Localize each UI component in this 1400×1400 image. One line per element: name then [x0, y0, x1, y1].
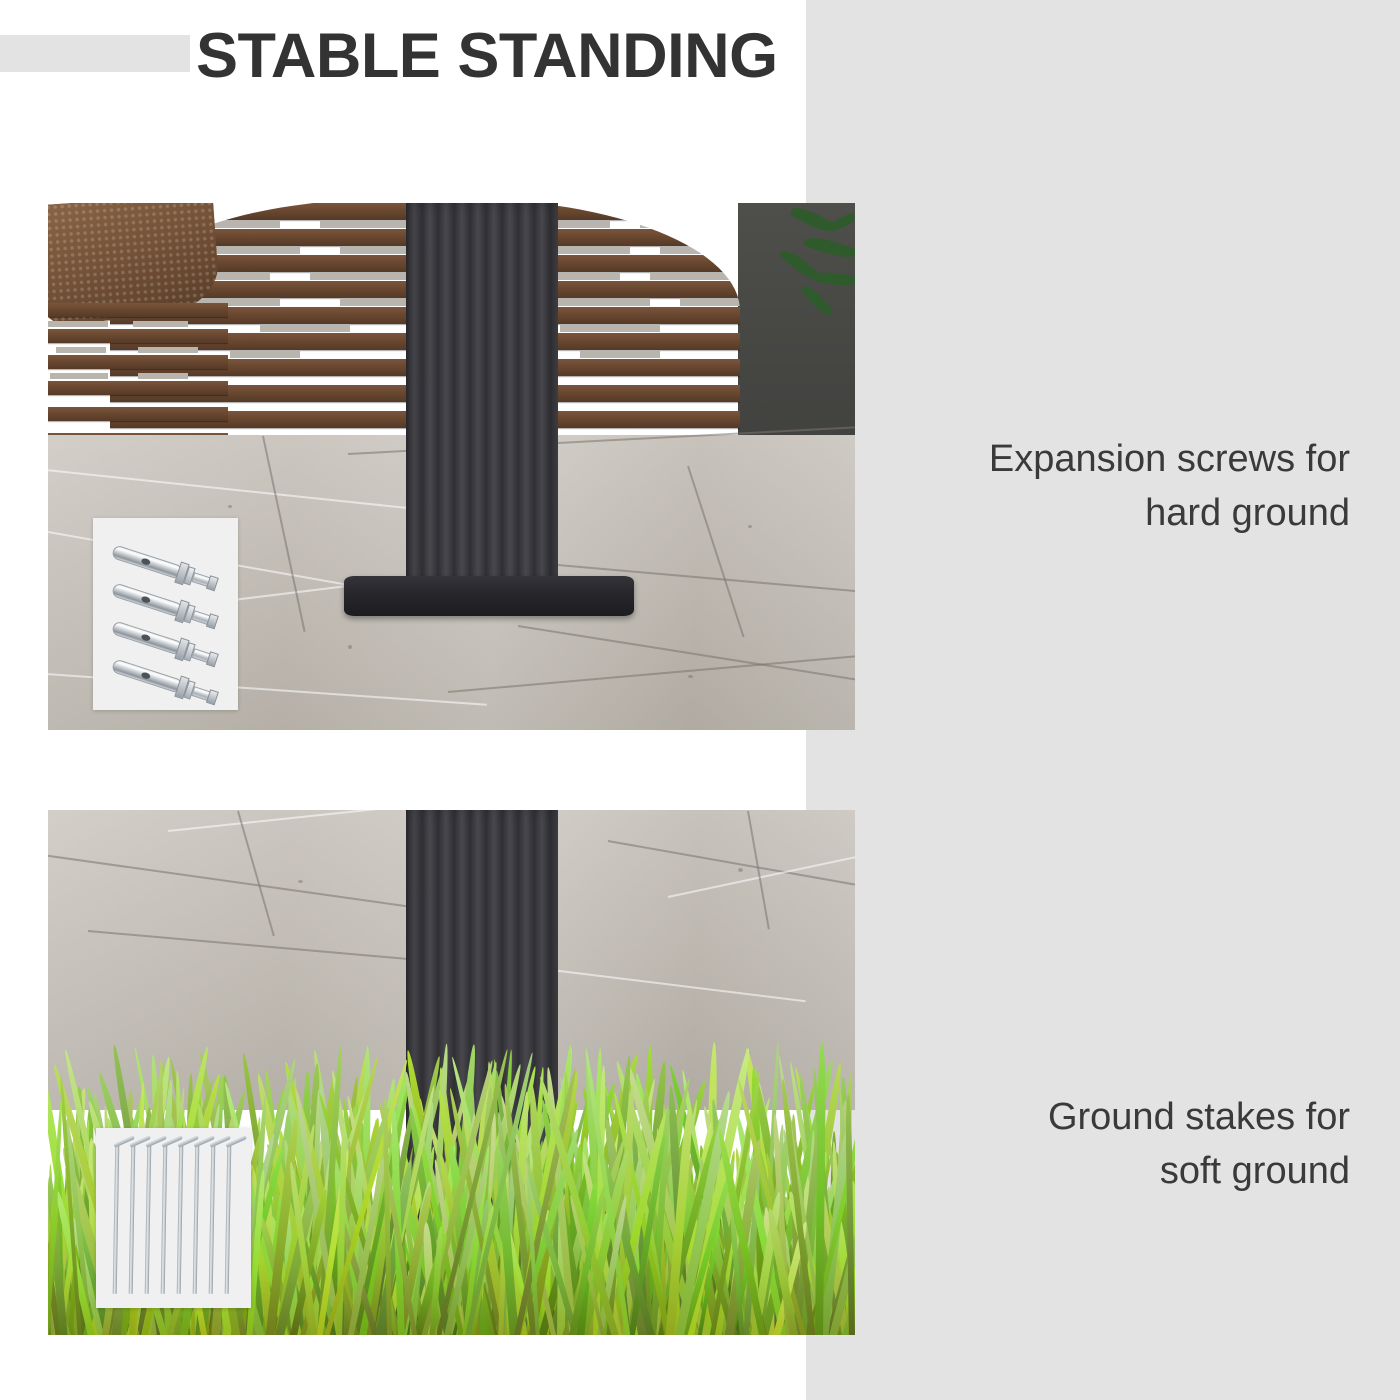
- wicker-chair-base: [48, 299, 228, 454]
- title-accent-bar: [0, 35, 190, 72]
- expansion-screw-item: [111, 544, 115, 557]
- caption-soft-ground: Ground stakes for soft ground: [880, 1090, 1350, 1198]
- page-title: STABLE STANDING: [196, 16, 816, 96]
- expansion-screw-item: [111, 658, 115, 671]
- photo-hard-ground: [48, 203, 855, 730]
- caption-line-1: Expansion screws for: [880, 432, 1350, 486]
- inset-card-expansion-screws: [93, 518, 238, 710]
- expansion-screw-item: [111, 620, 115, 633]
- caption-line-1: Ground stakes for: [880, 1090, 1350, 1144]
- pergola-post: [406, 203, 558, 597]
- expansion-screw-item: [111, 582, 115, 595]
- post-base-plate: [344, 576, 634, 616]
- infographic-page: STABLE STANDING: [0, 0, 1400, 1400]
- caption-line-2: hard ground: [880, 486, 1350, 540]
- inset-card-ground-stakes: [96, 1128, 251, 1308]
- caption-hard-ground: Expansion screws for hard ground: [880, 432, 1350, 540]
- photo-soft-ground: [48, 810, 855, 1335]
- caption-line-2: soft ground: [880, 1144, 1350, 1198]
